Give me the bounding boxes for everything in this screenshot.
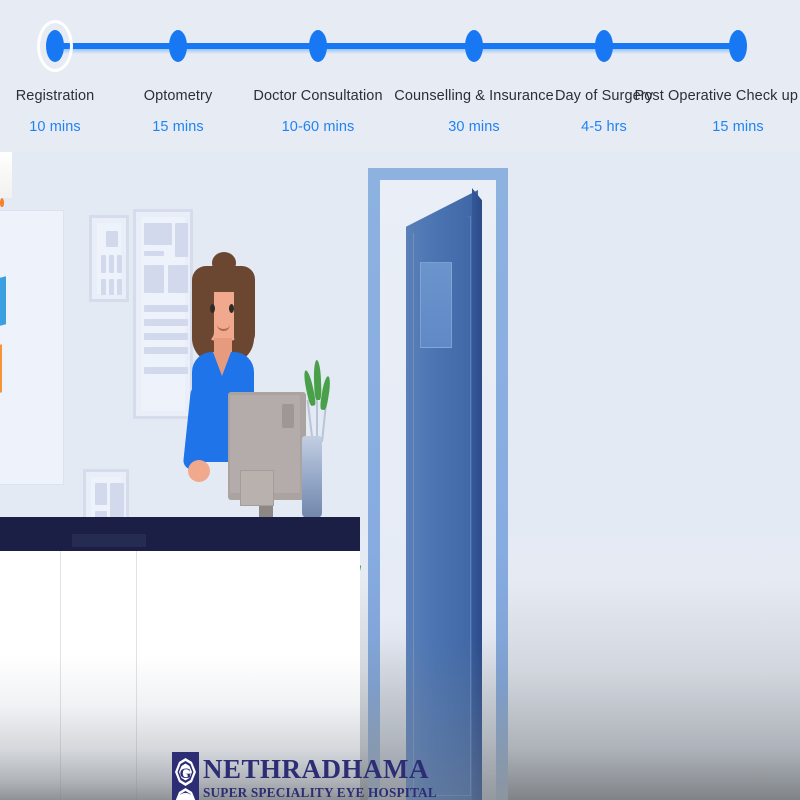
timeline-step-label: Post Operative Check up	[635, 88, 799, 104]
tall-vase	[302, 436, 322, 518]
reed-leaf	[313, 360, 321, 400]
patient-journey-timeline: Registration10 minsOptometry15 minsDocto…	[0, 0, 800, 152]
timeline-step-duration: 10 mins	[29, 119, 80, 135]
reed-stem	[316, 396, 318, 440]
hospital-reception-room: G NETHRADHAMA SUPER SPECIALITY EYE HOSPI…	[0, 152, 800, 800]
poster-content	[141, 217, 185, 411]
candle-icon	[0, 152, 12, 198]
timeline-step-duration: 15 mins	[712, 119, 763, 135]
timeline-step-duration: 15 mins	[152, 119, 203, 135]
monitor-foot-plate	[240, 470, 274, 506]
eye-monogram-icon: G	[172, 752, 199, 800]
monitor-body	[228, 392, 306, 500]
candle-flame-icon	[0, 198, 4, 207]
reed-leaf	[319, 376, 331, 411]
timeline-step-label: Doctor Consultation	[253, 88, 382, 104]
timeline-step-label: Registration	[16, 88, 95, 104]
timeline-step-duration: 4-5 hrs	[581, 119, 627, 135]
logo-emblem-svg: G	[172, 752, 199, 800]
reception-desk-counter	[0, 517, 360, 551]
eye-left	[210, 304, 215, 313]
wall-art-frame	[0, 210, 64, 485]
timeline-marker-icon[interactable]	[595, 30, 613, 62]
desk-panel-seam	[60, 551, 61, 800]
door-window	[420, 262, 452, 348]
logo-subtitle: SUPER SPECIALITY EYE HOSPITAL	[203, 784, 344, 800]
svg-text:G: G	[180, 766, 192, 782]
wall-poster-small-top	[89, 215, 129, 302]
timeline-track-glow	[55, 49, 739, 54]
timeline-marker-icon[interactable]	[169, 30, 187, 62]
patient-journey-scene: G NETHRADHAMA SUPER SPECIALITY EYE HOSPI…	[0, 0, 800, 800]
timeline-marker-icon[interactable]	[729, 30, 747, 62]
timeline-step-duration: 30 mins	[448, 119, 499, 135]
desktop-monitor	[228, 392, 306, 512]
logo-name: NETHRADHAMA	[203, 754, 347, 784]
eye-right	[229, 304, 234, 313]
hand-left	[188, 460, 210, 482]
desk-panel-seam	[136, 551, 137, 800]
hair-fringe	[196, 266, 252, 292]
desk-counter-highlight	[72, 534, 146, 547]
timeline-marker-icon[interactable]	[465, 30, 483, 62]
hospital-logo: G NETHRADHAMA SUPER SPECIALITY EYE HOSPI…	[172, 752, 347, 800]
timeline-step-label: Counselling & Insurance	[394, 88, 553, 104]
reed-stem	[307, 400, 314, 440]
monitor-vent	[282, 404, 294, 428]
poster-content	[97, 223, 121, 294]
consultation-door	[368, 168, 516, 800]
wall-poster-large	[133, 209, 193, 419]
timeline-marker-icon[interactable]	[46, 30, 64, 62]
logo-text-block: NETHRADHAMA SUPER SPECIALITY EYE HOSPITA…	[203, 754, 347, 800]
timeline-step-duration: 10-60 mins	[282, 119, 355, 135]
timeline-marker-icon[interactable]	[309, 30, 327, 62]
timeline-step-label: Optometry	[144, 88, 213, 104]
